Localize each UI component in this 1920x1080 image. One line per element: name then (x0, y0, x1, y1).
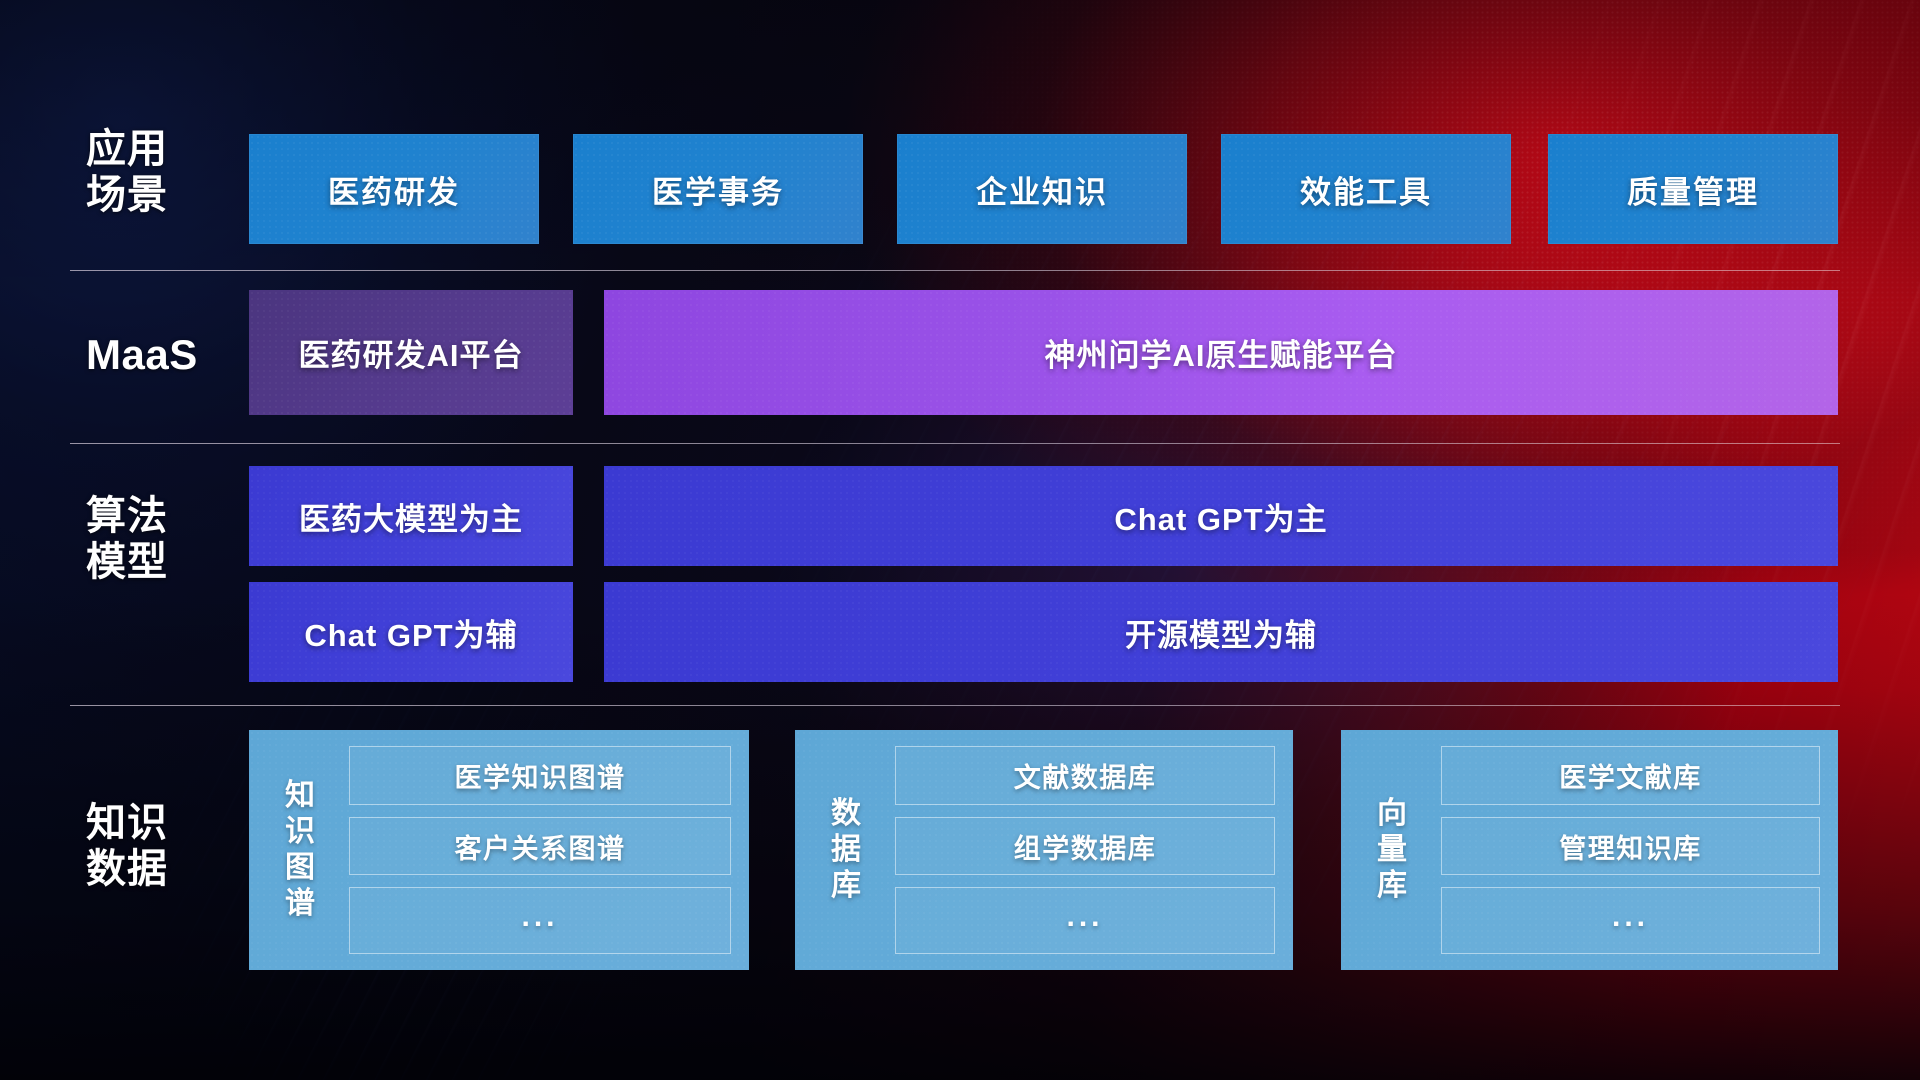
app-card-2[interactable]: 医学事务 (573, 134, 863, 244)
knowledge-group-database[interactable]: 数 据 库 文献数据库 组学数据库 ... (795, 730, 1293, 970)
knowledge-item-management-knowledge-store[interactable]: 管理知识库 (1441, 817, 1820, 876)
maas-card-shenzhou-wenxue-platform-label: 神州问学AI原生赋能平台 (1045, 330, 1398, 375)
algo-card-opensource-secondary[interactable]: 开源模型为辅 (604, 582, 1838, 682)
row-label-application-scenarios: 应用 场景 (86, 126, 236, 218)
db-title-char-2: 据 (831, 832, 863, 868)
knowledge-item-medical-knowledge-graph[interactable]: 医学知识图谱 (349, 746, 731, 805)
algo-card-chatgpt-primary-label: Chat GPT为主 (1114, 494, 1327, 539)
knowledge-item-more-3[interactable]: ... (1441, 887, 1820, 954)
knowledge-group-vector-store[interactable]: 向 量 库 医学文献库 管理知识库 ... (1341, 730, 1838, 970)
row-label-maas: MaaS (86, 332, 236, 378)
knowledge-item-more-1[interactable]: ... (349, 887, 731, 954)
knowledge-item-literature-database[interactable]: 文献数据库 (895, 746, 1275, 805)
algo-card-opensource-secondary-label: 开源模型为辅 (1125, 610, 1317, 655)
knowledge-group-database-title: 数 据 库 (809, 746, 885, 954)
app-card-4-label: 效能工具 (1300, 167, 1432, 212)
app-card-3-label: 企业知识 (976, 167, 1108, 212)
app-card-4[interactable]: 效能工具 (1221, 134, 1511, 244)
knowledge-group-knowledge-graph[interactable]: 知 识 图 谱 医学知识图谱 客户关系图谱 ... (249, 730, 749, 970)
app-card-1-label: 医药研发 (328, 167, 460, 212)
app-card-1[interactable]: 医药研发 (249, 134, 539, 244)
maas-card-shenzhou-wenxue-platform[interactable]: 神州问学AI原生赋能平台 (604, 290, 1838, 415)
knowledge-item-omics-database[interactable]: 组学数据库 (895, 817, 1275, 876)
knowledge-group-vector-store-title: 向 量 库 (1355, 746, 1431, 954)
maas-card-pharma-ai-platform[interactable]: 医药研发AI平台 (249, 290, 573, 415)
kg-title-char-3: 图 (285, 850, 317, 886)
knowledge-group-vector-store-items: 医学文献库 管理知识库 ... (1441, 746, 1820, 954)
algo-card-pharma-llm-primary[interactable]: 医药大模型为主 (249, 466, 573, 566)
app-card-2-label: 医学事务 (652, 167, 784, 212)
app-card-5[interactable]: 质量管理 (1548, 134, 1838, 244)
vs-title-char-1: 向 (1377, 796, 1409, 832)
row-label-algorithm-models: 算法 模型 (86, 493, 236, 585)
kg-title-char-1: 知 (285, 778, 317, 814)
knowledge-item-customer-relation-graph[interactable]: 客户关系图谱 (349, 817, 731, 876)
knowledge-item-more-2[interactable]: ... (895, 887, 1275, 954)
algo-card-chatgpt-secondary[interactable]: Chat GPT为辅 (249, 582, 573, 682)
row-label-knowledge-data: 知识 数据 (86, 800, 236, 892)
app-card-5-label: 质量管理 (1627, 167, 1759, 212)
db-title-char-3: 库 (831, 868, 863, 904)
algo-card-pharma-llm-primary-label: 医药大模型为主 (299, 494, 523, 539)
vs-title-char-3: 库 (1377, 868, 1409, 904)
knowledge-group-knowledge-graph-title: 知 识 图 谱 (263, 746, 339, 954)
knowledge-group-database-items: 文献数据库 组学数据库 ... (895, 746, 1275, 954)
maas-card-pharma-ai-platform-label: 医药研发AI平台 (299, 330, 524, 375)
app-card-3[interactable]: 企业知识 (897, 134, 1187, 244)
algo-card-chatgpt-primary[interactable]: Chat GPT为主 (604, 466, 1838, 566)
row-separator-3 (70, 705, 1840, 706)
row-separator-1 (70, 270, 1840, 271)
row-separator-2 (70, 443, 1840, 444)
algo-card-chatgpt-secondary-label: Chat GPT为辅 (304, 610, 517, 655)
knowledge-group-knowledge-graph-items: 医学知识图谱 客户关系图谱 ... (349, 746, 731, 954)
kg-title-char-4: 谱 (285, 886, 317, 922)
db-title-char-1: 数 (831, 796, 863, 832)
kg-title-char-2: 识 (285, 814, 317, 850)
architecture-diagram: 应用 场景 医药研发 医学事务 企业知识 效能工具 质量管理 MaaS 医药研发… (0, 0, 1920, 1080)
knowledge-item-medical-literature-store[interactable]: 医学文献库 (1441, 746, 1820, 805)
vs-title-char-2: 量 (1377, 832, 1409, 868)
